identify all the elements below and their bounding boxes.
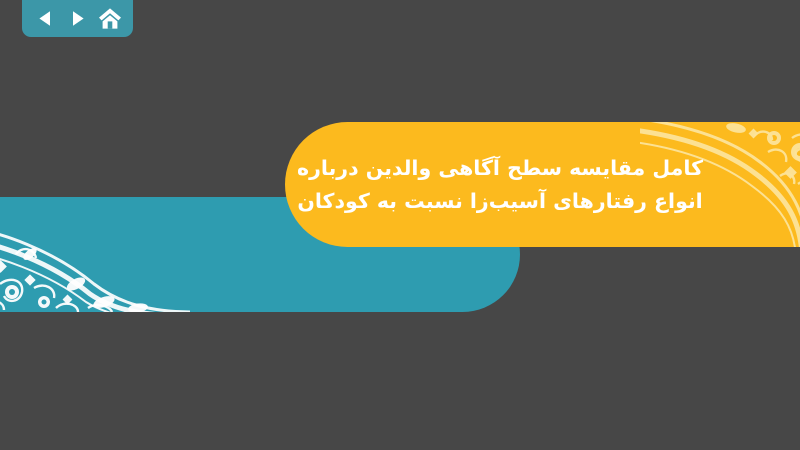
home-icon [98, 7, 122, 30]
home-button[interactable] [96, 6, 123, 32]
slide-canvas: کامل مقایسه سطح آگاهی والدین درباره انوا… [0, 0, 800, 450]
title-line-2: انواع رفتارهای آسیب‌زا نسبت به کودکان [297, 186, 702, 217]
next-button[interactable] [64, 6, 91, 32]
title-line-1: کامل مقایسه سطح آگاهی والدین درباره [297, 153, 703, 184]
triangle-right-icon [68, 9, 87, 28]
previous-button[interactable] [32, 6, 59, 32]
arabesque-ornament-icon [0, 197, 190, 312]
slide-title: کامل مقایسه سطح آگاهی والدین درباره انوا… [300, 122, 700, 247]
navigation-bar [22, 0, 133, 37]
triangle-left-icon [36, 9, 55, 28]
